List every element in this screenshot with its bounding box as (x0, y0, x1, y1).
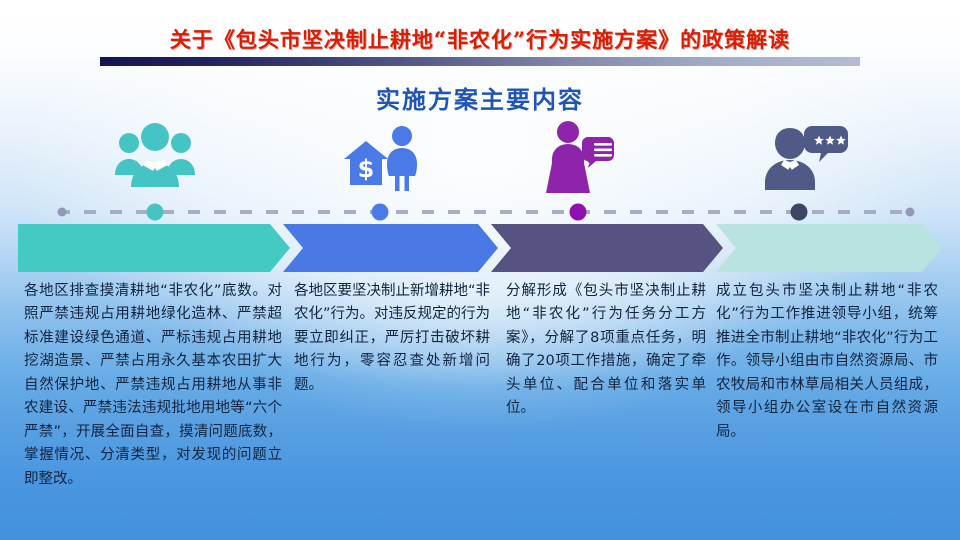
group-of-people-icon (113, 119, 197, 193)
step-text-1: 各地区排查摸清耕地“非农化”底数。对照严禁违规占用耕地绿化造林、严禁超标准建设绿… (24, 280, 282, 491)
slide-header: 关于《包头市坚决制止耕地“非农化”行为实施方案》的政策解读 (0, 24, 960, 68)
page-title: 关于《包头市坚决制止耕地“非农化”行为实施方案》的政策解读 (0, 24, 960, 54)
timeline-node-1 (147, 204, 164, 221)
header-gradient-rule (100, 57, 860, 66)
businessman-with-stars-bubble-icon (760, 120, 850, 192)
speaker-at-podium-icon (538, 117, 622, 195)
content-columns: 各地区排查摸清耕地“非农化”底数。对照严禁违规占用耕地绿化造林、严禁超标准建设绿… (0, 280, 960, 530)
timeline-node-end (906, 208, 915, 217)
step-icon-2: $ (290, 110, 470, 202)
timeline-node-start (58, 208, 67, 217)
chevron-band (18, 224, 942, 272)
house-money-and-person-icon: $ (338, 119, 422, 193)
step-text-3: 分解形成《包头市坚决制止耕地“非农化”行为任务分工方案》，分解了8项重点任务，明… (506, 280, 706, 421)
timeline-node-4 (791, 204, 808, 221)
step-icon-1 (65, 110, 245, 202)
slide-canvas: 关于《包头市坚决制止耕地“非农化”行为实施方案》的政策解读 实施方案主要内容 (0, 0, 960, 540)
step-text-2: 各地区要坚决制止新增耕地“非农化”行为。对违反规定的行为要立即纠正，严厉打击破坏… (294, 280, 490, 397)
chevron-step-2[interactable] (283, 224, 498, 272)
timeline-node-3 (570, 204, 587, 221)
chevron-step-3[interactable] (491, 224, 723, 272)
icon-row: $ (0, 110, 960, 202)
timeline-dashed-line (58, 210, 914, 214)
step-text-4: 成立包头市坚决制止耕地“非农化”行为工作推进领导小组，统筹推进全市制止耕地“非农… (716, 280, 938, 444)
timeline-connector (0, 204, 960, 220)
chevron-step-4[interactable] (716, 224, 942, 272)
svg-text:$: $ (358, 155, 375, 183)
step-icon-4 (715, 110, 895, 202)
timeline-node-2 (372, 204, 389, 221)
chevron-step-1[interactable] (18, 224, 290, 272)
step-icon-3 (490, 110, 670, 202)
